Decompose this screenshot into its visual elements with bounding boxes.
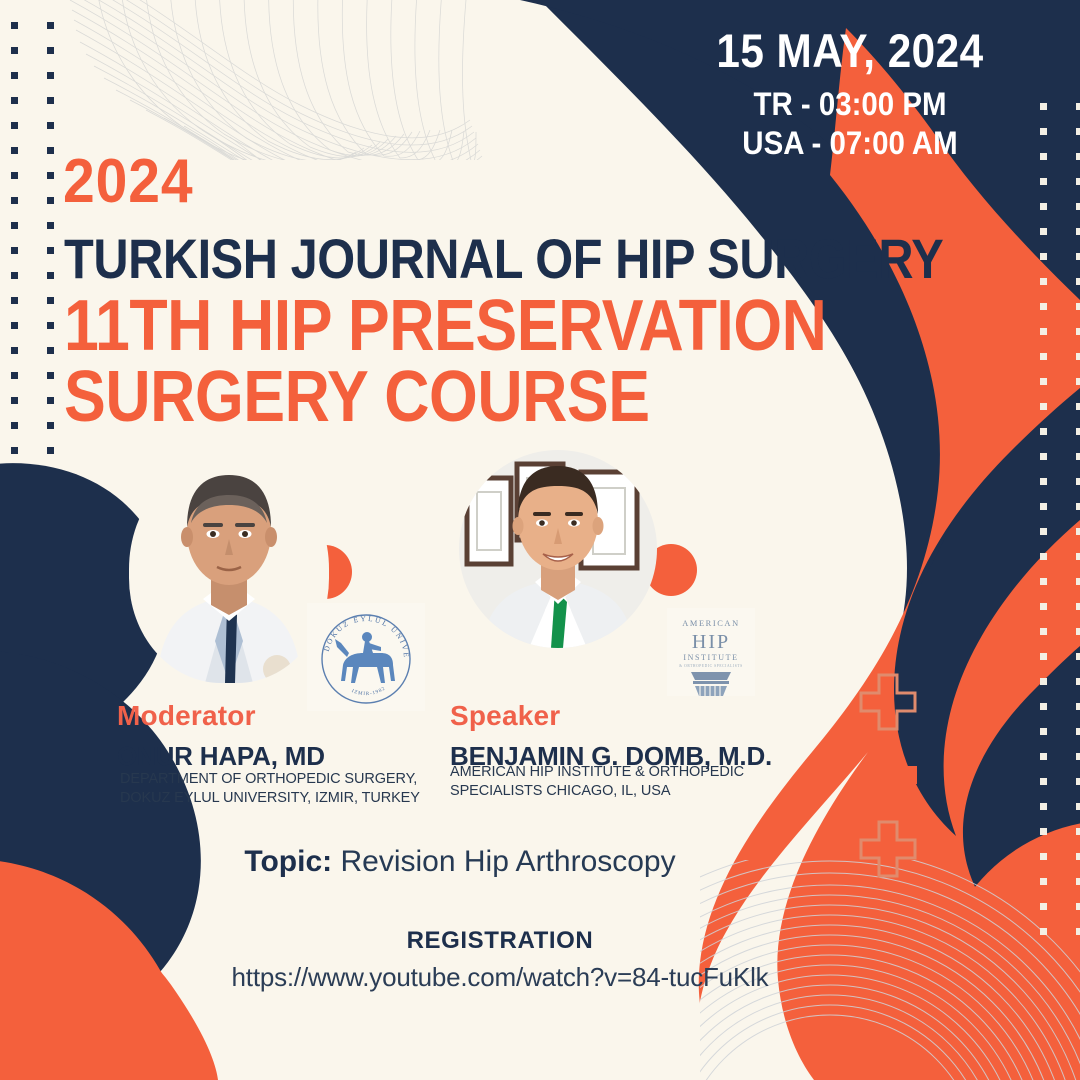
title-line-3: SURGERY COURSE <box>64 362 943 433</box>
avatar-moderator <box>129 455 329 683</box>
affiliation-speaker: AMERICAN HIP INSTITUTE & ORTHOPEDIC SPEC… <box>450 763 744 800</box>
year-label: 2024 <box>63 146 194 217</box>
event-date: 15 MAY, 2024 <box>661 26 1039 75</box>
svg-text:HIP: HIP <box>692 631 730 653</box>
cross-outline-icon <box>857 671 919 738</box>
poster-canvas: 15 MAY, 2024 TR - 03:00 PM USA - 07:00 A… <box>0 0 1080 1080</box>
logo-american-hip-institute: AMERICAN HIP INSTITUTE & ORTHOPEDIC SPEC… <box>667 608 755 696</box>
time-usa: USA - 07:00 AM <box>657 124 1043 163</box>
title-line-2: 11TH HIP PRESERVATION <box>64 291 943 362</box>
topic-line: Topic: Revision Hip Arthroscopy <box>0 845 920 879</box>
registration-url[interactable]: https://www.youtube.com/watch?v=84-tucFu… <box>0 962 1000 993</box>
svg-text:AMERICAN: AMERICAN <box>682 619 739 628</box>
logo-dokuz-eylul-university: DOKUZ EYLÜL ÜNİVERSİTESİ IZMIR-1982 <box>307 603 425 711</box>
cross-filled-icon <box>855 742 921 813</box>
svg-text:& ORTHOPEDIC SPECIALISTS: & ORTHOPEDIC SPECIALISTS <box>679 664 743 668</box>
registration-heading: REGISTRATION <box>0 927 1000 955</box>
name-moderator: ONUR HAPA, MD <box>117 741 325 772</box>
event-times: TR - 03:00 PM USA - 07:00 AM <box>657 85 1043 163</box>
role-label-moderator: Moderator <box>117 700 256 732</box>
svg-text:INSTITUTE: INSTITUTE <box>683 653 738 662</box>
dot-grid-right <box>1040 103 1080 935</box>
event-date-block: 15 MAY, 2024 TR - 03:00 PM USA - 07:00 A… <box>640 26 1060 163</box>
title-line-1: TURKISH JOURNAL OF HIP SURGERY <box>64 232 943 287</box>
avatar-speaker <box>459 450 657 648</box>
dot-grid-left <box>11 22 54 679</box>
role-label-speaker: Speaker <box>450 700 560 732</box>
topic-label: Topic: <box>244 845 332 878</box>
time-tr: TR - 03:00 PM <box>657 85 1043 124</box>
topic-value: Revision Hip Arthroscopy <box>332 845 675 878</box>
affiliation-moderator: DEPARTMENT OF ORTHOPEDIC SURGERY, DOKUZ … <box>120 770 420 807</box>
page-title: TURKISH JOURNAL OF HIP SURGERY 11TH HIP … <box>64 232 1075 433</box>
